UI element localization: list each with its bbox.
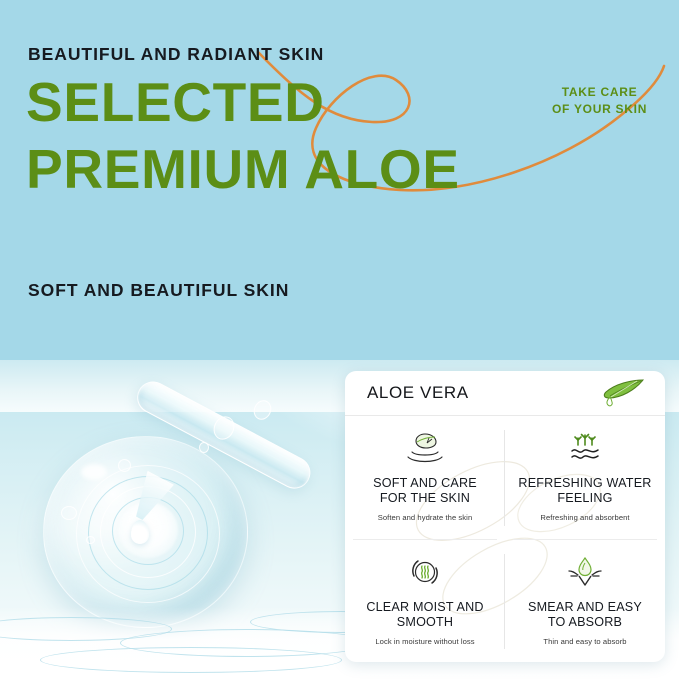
feature-title: SMEAR AND EASY TO ABSORB [528,600,642,630]
bubble-icon [61,506,77,520]
eyebrow-text: BEAUTIFUL AND RADIANT SKIN [28,44,324,65]
water-wave [40,647,342,673]
droplet-absorb-icon [565,553,605,591]
aloe-leaf-icon [601,378,645,408]
bubble-icon [86,536,95,544]
feature-subtitle: Lock in moisture without loss [375,637,474,646]
bubble-icon [199,442,209,453]
take-care-badge: TAKE CARE OF YOUR SKIN [552,84,647,119]
moisture-cycle-icon [405,553,445,591]
feature-title-line-1: CLEAR MOIST AND [366,600,483,615]
feature-cell-soft-and-care[interactable]: SOFT AND CARE FOR THE SKIN Soften and hy… [345,416,505,540]
sprouts-over-water-icon [565,429,605,467]
card-title: ALOE VERA [367,383,469,403]
aloe-vera-feature-card: ALOE VERA [345,371,665,662]
card-header: ALOE VERA [345,371,665,416]
feature-subtitle: Soften and hydrate the skin [378,513,473,522]
feature-subtitle: Refreshing and absorbent [540,513,629,522]
feature-grid: SOFT AND CARE FOR THE SKIN Soften and hy… [345,416,665,662]
page-title: SELECTED PREMIUM ALOE [26,76,566,196]
feature-cell-refreshing-water[interactable]: REFRESHING WATER FEELING Refreshing and … [505,416,665,540]
aloe-vera-product-banner: BEAUTIFUL AND RADIANT SKIN SELECTED PREM… [0,0,679,679]
bubble-icon [118,459,131,472]
leaf-on-ripple-icon [405,429,445,467]
feature-cell-smear-absorb[interactable]: SMEAR AND EASY TO ABSORB Thin and easy t… [505,540,665,663]
headline-line-1: SELECTED [26,71,325,133]
feature-cell-clear-moist[interactable]: CLEAR MOIST AND SMOOTH Lock in moisture … [345,540,505,663]
feature-title: REFRESHING WATER FEELING [518,476,651,506]
feature-title: CLEAR MOIST AND SMOOTH [366,600,483,630]
feature-title-line-2: FEELING [518,491,651,506]
feature-title-line-1: REFRESHING WATER [518,476,651,491]
badge-line-2: OF YOUR SKIN [552,101,647,118]
feature-title-line-1: SMEAR AND EASY [528,600,642,615]
badge-line-1: TAKE CARE [552,84,647,101]
feature-subtitle: Thin and easy to absorb [543,637,626,646]
feature-title-line-1: SOFT AND CARE [373,476,477,491]
headline-line-2: PREMIUM ALOE [26,143,566,196]
subline-text: SOFT AND BEAUTIFUL SKIN [28,280,289,301]
feature-title: SOFT AND CARE FOR THE SKIN [373,476,477,506]
droplet-icon [131,520,149,544]
feature-title-line-2: TO ABSORB [528,615,642,630]
feature-title-line-2: FOR THE SKIN [373,491,477,506]
feature-title-line-2: SMOOTH [366,615,483,630]
